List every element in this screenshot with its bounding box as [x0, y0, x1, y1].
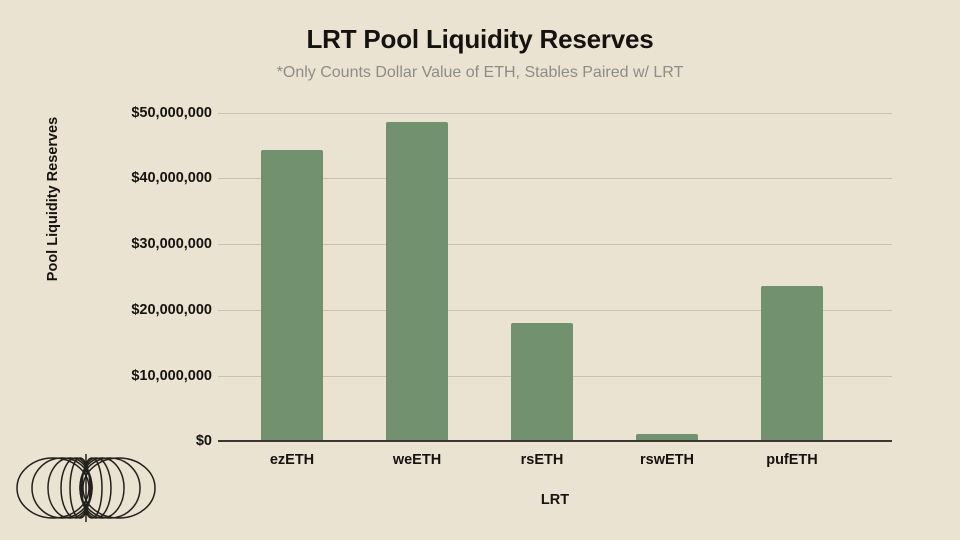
x-tick-label-rsETH: rsETH	[472, 452, 612, 468]
bar-ezETH[interactable]	[261, 150, 323, 441]
x-axis-line	[218, 440, 892, 442]
x-tick-label-pufETH: pufETH	[722, 452, 862, 468]
chart-container: LRT Pool Liquidity Reserves *Only Counts…	[0, 0, 960, 540]
bar-weETH[interactable]	[386, 122, 448, 441]
gridline	[218, 113, 892, 114]
y-tick-label: $20,000,000	[96, 302, 212, 318]
bar-rsETH[interactable]	[511, 323, 573, 441]
x-tick-label-rswETH: rswETH	[597, 452, 737, 468]
overlapping-circles-logo	[6, 442, 166, 534]
x-tick-label-weETH: weETH	[347, 452, 487, 468]
y-tick-label: $50,000,000	[96, 105, 212, 121]
y-tick-label: $10,000,000	[96, 368, 212, 384]
plot-area	[218, 113, 892, 441]
y-tick-label: $40,000,000	[96, 170, 212, 186]
x-tick-label-ezETH: ezETH	[222, 452, 362, 468]
y-axis-title: Pool Liquidity Reserves	[45, 104, 61, 294]
y-tick-label: $30,000,000	[96, 236, 212, 252]
bar-pufETH[interactable]	[761, 286, 823, 441]
